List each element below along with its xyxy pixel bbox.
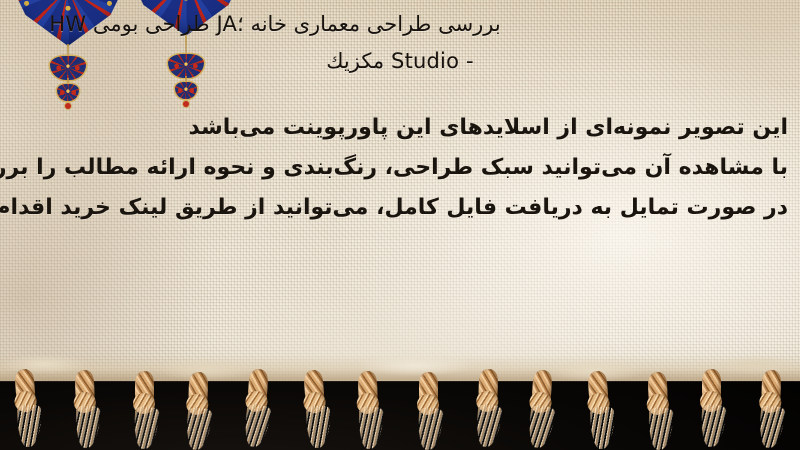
title-line-2: - Studio مكزيك (10, 43, 790, 80)
slide-title: بررسی طراحی معماری خانه ؛JA طراحی بومی H… (10, 6, 790, 80)
body-line-2: با مشاهده آن می‌توانید سبک طراحی، رنگ‌بن… (10, 148, 788, 188)
slide-body: این تصویر نمونه‌ای از اسلایدهای این پاور… (10, 108, 788, 228)
body-line-1: این تصویر نمونه‌ای از اسلایدهای این پاور… (10, 108, 788, 148)
title-line-1: بررسی طراحی معماری خانه ؛JA طراحی بومی H… (10, 6, 790, 43)
body-line-3: در صورت تمایل به دریافت فایل کامل، می‌تو… (10, 188, 788, 228)
text-layer: بررسی طراحی معماری خانه ؛JA طراحی بومی H… (0, 0, 800, 450)
slide-canvas: بررسی طراحی معماری خانه ؛JA طراحی بومی H… (0, 0, 800, 450)
